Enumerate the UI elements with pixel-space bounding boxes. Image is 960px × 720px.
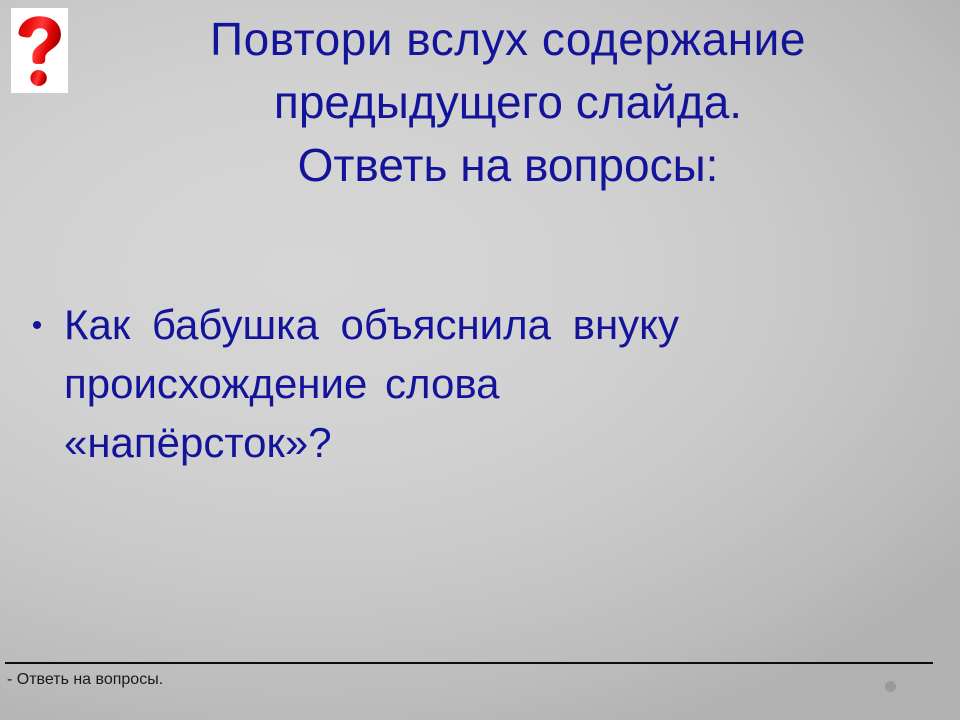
footer-divider	[5, 662, 933, 664]
bullet-text: Как бабушка объяснила внуку происхождени…	[64, 296, 940, 472]
title-line-2: предыдущего слайда.	[78, 71, 938, 134]
bullet-line-2: происхождение слова	[64, 355, 922, 414]
question-mark-badge	[11, 8, 68, 93]
title-line-3: Ответь на вопросы:	[78, 134, 938, 197]
title-line-1: Повтори вслух содержание	[78, 8, 938, 71]
list-item: • Как бабушка объяснила внуку происхожде…	[10, 296, 940, 472]
footer-note: - Ответь на вопросы.	[7, 671, 163, 689]
bullet-line-3: «напёрсток»?	[64, 414, 922, 473]
slide-title: Повтори вслух содержание предыдущего сла…	[78, 8, 938, 197]
slide-body: • Как бабушка объяснила внуку происхожде…	[10, 296, 940, 472]
bullet-marker-icon: •	[10, 296, 64, 355]
bullet-line-1: Как бабушка объяснила внуку	[64, 296, 922, 355]
question-mark-icon	[16, 14, 64, 88]
footer-dot-icon	[885, 681, 896, 692]
slide-canvas: Повтори вслух содержание предыдущего сла…	[0, 0, 960, 720]
